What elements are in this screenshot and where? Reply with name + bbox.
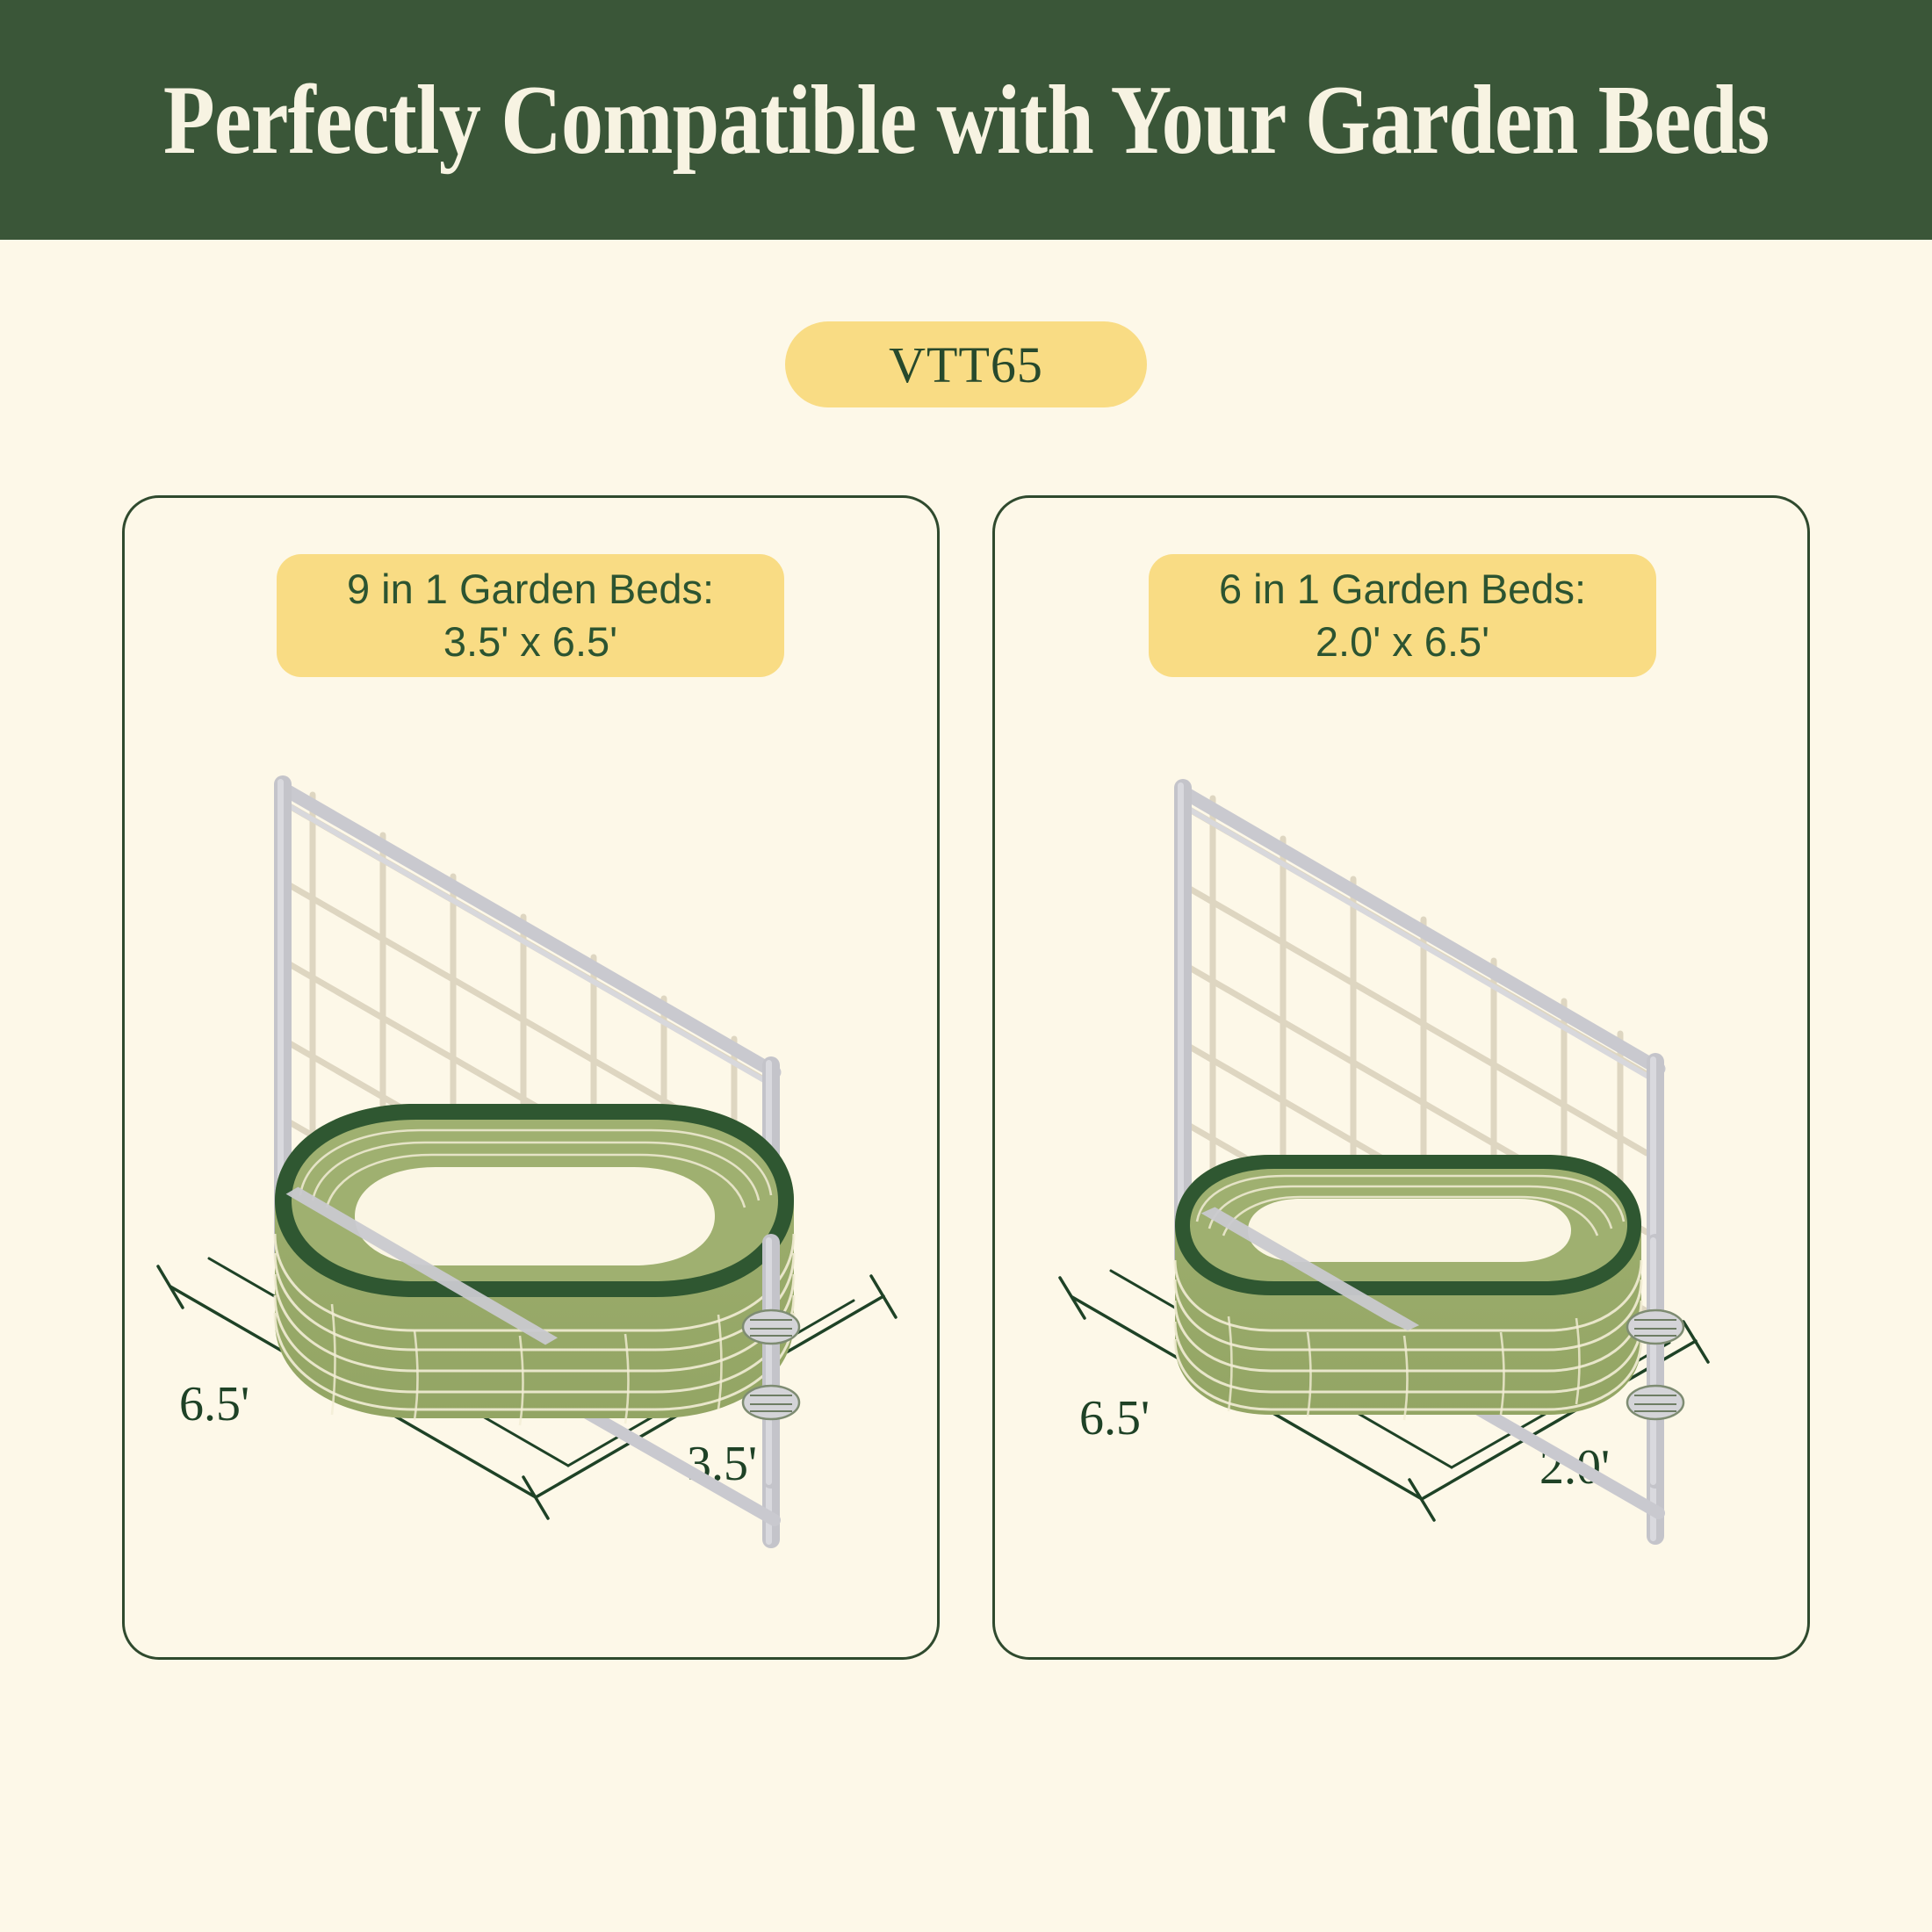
header-band: Perfectly Compatible with Your Garden Be… (0, 0, 1932, 240)
model-badge-label: VTT65 (889, 335, 1043, 394)
bed-size-badge-title: 9 in 1 Garden Beds: (347, 563, 714, 616)
mounting-bracket-upper-9in1 (743, 1310, 799, 1344)
compatibility-card-9in1[interactable]: 9 in 1 Garden Beds: 3.5' x 6.5' (122, 495, 940, 1660)
dimension-label-length-6in1: 6.5' (1079, 1391, 1150, 1445)
mounting-bracket-lower-9in1 (743, 1386, 799, 1419)
garden-bed-illustration-9in1: 6.5' 3.5' (125, 707, 942, 1638)
dimension-label-length-9in1: 6.5' (179, 1377, 249, 1431)
bed-size-badge-title: 6 in 1 Garden Beds: (1219, 563, 1586, 616)
model-badge: VTT65 (785, 321, 1147, 407)
garden-bed-illustration-6in1: 6.5' 2.0' (995, 707, 1813, 1638)
mounting-bracket-lower-6in1 (1627, 1386, 1683, 1419)
bed-inner-cavity-6in1 (1248, 1199, 1571, 1262)
raised-garden-bed-9in1 (275, 1104, 794, 1425)
bed-size-badge-dims: 2.0' x 6.5' (1316, 616, 1489, 668)
bed-size-badge-9in1: 9 in 1 Garden Beds: 3.5' x 6.5' (277, 554, 784, 677)
raised-garden-bed-6in1 (1175, 1155, 1641, 1420)
compatibility-cards: 9 in 1 Garden Beds: 3.5' x 6.5' (122, 495, 1810, 1663)
bed-inner-cavity-9in1 (355, 1167, 715, 1265)
bed-size-badge-dims: 3.5' x 6.5' (443, 616, 617, 668)
compatibility-card-6in1[interactable]: 6 in 1 Garden Beds: 2.0' x 6.5' (992, 495, 1810, 1660)
mounting-bracket-upper-6in1 (1627, 1310, 1683, 1344)
bed-size-badge-6in1: 6 in 1 Garden Beds: 2.0' x 6.5' (1149, 554, 1656, 677)
page-title: Perfectly Compatible with Your Garden Be… (163, 71, 1770, 169)
